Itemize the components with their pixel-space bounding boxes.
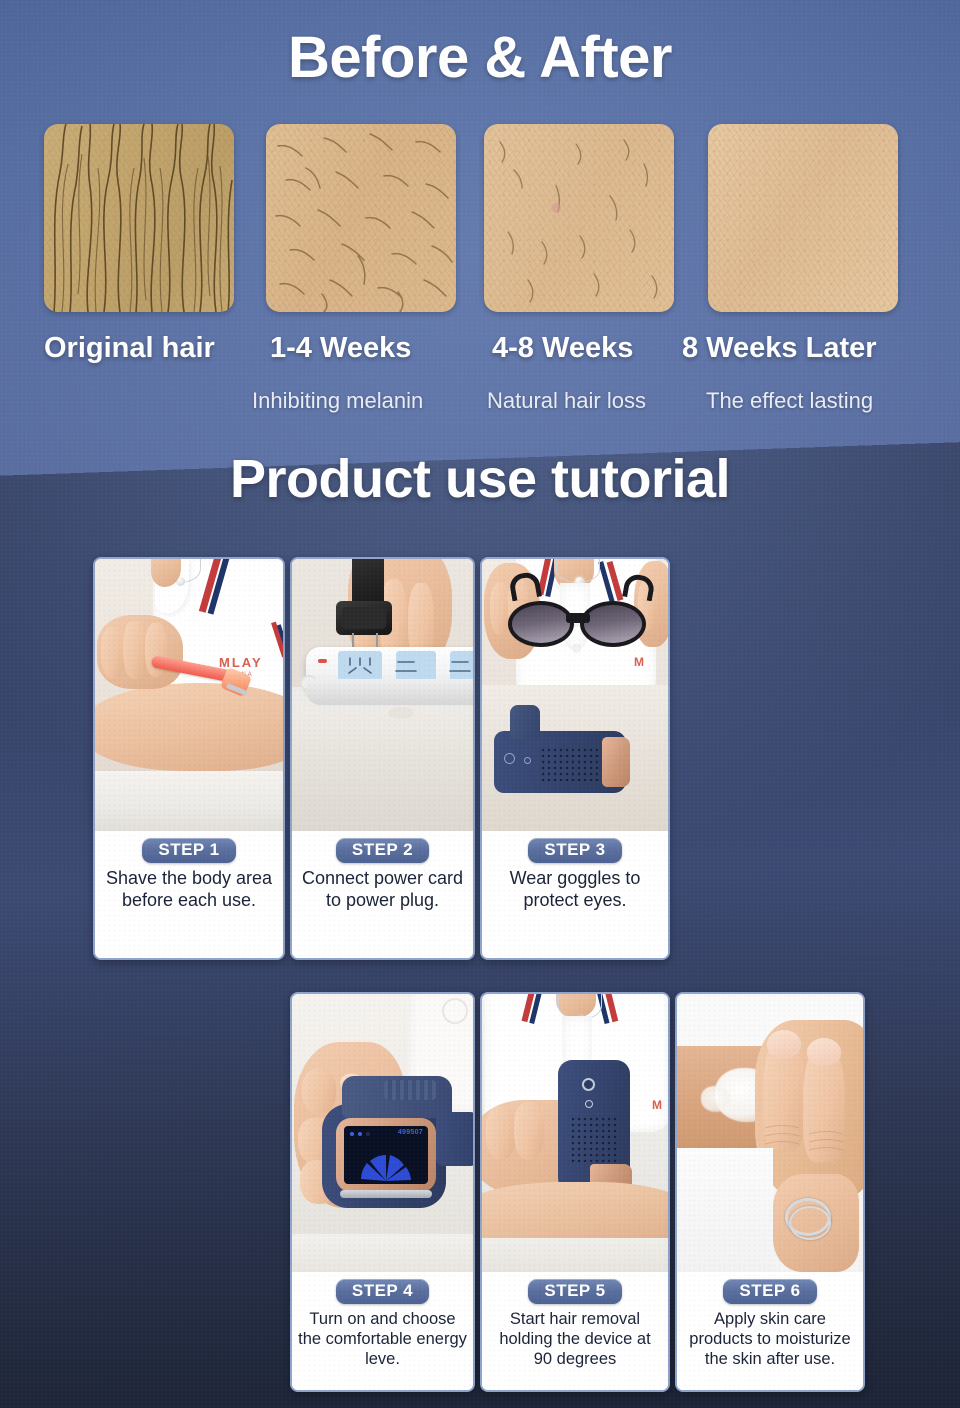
- short-hair-strands-icon: [266, 124, 456, 312]
- swatch-8-weeks-later: [708, 124, 898, 312]
- step-3-caption: STEP 3 Wear goggles to protect eyes.: [482, 831, 668, 958]
- step-1-badge: STEP 1: [142, 838, 235, 863]
- knuckle-crease-lines: [761, 1118, 861, 1168]
- step-5-photo: M: [482, 994, 668, 1272]
- step-3-badge: STEP 3: [528, 838, 621, 863]
- swatch-4-8-weeks: [484, 124, 674, 312]
- phase-label-1-4-weeks: 1-4 Weeks: [270, 332, 411, 365]
- phase-sub-natural-hair-loss: Natural hair loss: [487, 388, 646, 414]
- phase-label-original-hair: Original hair: [44, 332, 215, 365]
- polo-logo: MLAY: [219, 655, 263, 670]
- step-2-caption: STEP 2 Connect power card to power plug.: [292, 831, 473, 958]
- product-marketing-page: Before & After: [0, 0, 960, 1408]
- goggles-icon: [506, 595, 650, 653]
- phase-label-4-8-weeks: 4-8 Weeks: [492, 332, 633, 365]
- step-3-photo: M: [482, 559, 668, 831]
- step-1-text: Shave the body area before each use.: [99, 868, 279, 912]
- step-4-caption: STEP 4 Turn on and choose the comfortabl…: [292, 1272, 473, 1390]
- tutorial-step-card-1[interactable]: MLAY CHINA STEP 1 Shave the body area be…: [93, 557, 285, 960]
- step-2-photo: [292, 559, 473, 831]
- step-6-photo: [677, 994, 863, 1272]
- step-5-badge: STEP 5: [528, 1279, 621, 1304]
- step-1-caption: STEP 1 Shave the body area before each u…: [95, 831, 283, 958]
- step-1-photo: MLAY CHINA: [95, 559, 283, 831]
- tutorial-step-card-4[interactable]: 499507 STEP 4 Turn on and choose the: [290, 992, 475, 1392]
- tutorial-step-card-5[interactable]: M STEP 5 Start hair removal holding the …: [480, 992, 670, 1392]
- tutorial-step-card-6[interactable]: STEP 6 Apply skin care products to moist…: [675, 992, 865, 1392]
- energy-level-fan-icon: [358, 1149, 414, 1181]
- device-counter-value: 499507: [398, 1129, 423, 1136]
- tutorial-step-card-3[interactable]: M: [480, 557, 670, 960]
- page-title-before-after: Before & After: [0, 24, 960, 91]
- before-after-swatch-row: [44, 124, 920, 312]
- phase-sublabel-row: Inhibiting melanin Natural hair loss The…: [0, 388, 960, 422]
- phase-label-8-weeks-later: 8 Weeks Later: [682, 332, 877, 365]
- step-5-text: Start hair removal holding the device at…: [486, 1309, 664, 1369]
- phase-sub-effect-lasting: The effect lasting: [706, 388, 873, 414]
- step-2-text: Connect power card to power plug.: [296, 868, 469, 912]
- step-4-photo: 499507: [292, 994, 473, 1272]
- device-display-screen: 499507: [344, 1126, 428, 1184]
- step-6-badge: STEP 6: [723, 1279, 816, 1304]
- step-4-badge: STEP 4: [336, 1279, 429, 1304]
- step-5-caption: STEP 5 Start hair removal holding the de…: [482, 1272, 668, 1390]
- step-6-text: Apply skin care products to moisturize t…: [681, 1309, 859, 1369]
- sparse-hair-strands-icon: [484, 124, 674, 312]
- dense-hair-strands-icon: [44, 124, 234, 312]
- step-6-caption: STEP 6 Apply skin care products to moist…: [677, 1272, 863, 1390]
- page-title-product-use-tutorial: Product use tutorial: [0, 448, 960, 510]
- swatch-1-4-weeks: [266, 124, 456, 312]
- phase-label-row: Original hair 1-4 Weeks 4-8 Weeks 8 Week…: [0, 332, 960, 376]
- step-3-text: Wear goggles to protect eyes.: [486, 868, 664, 912]
- phase-sub-inhibiting-melanin: Inhibiting melanin: [252, 388, 423, 414]
- swatch-original-hair: [44, 124, 234, 312]
- step-2-badge: STEP 2: [336, 838, 429, 863]
- socket-slots-icon: [338, 651, 473, 681]
- tutorial-step-card-2[interactable]: STEP 2 Connect power card to power plug.: [290, 557, 475, 960]
- step-4-text: Turn on and choose the comfortable energ…: [296, 1309, 469, 1369]
